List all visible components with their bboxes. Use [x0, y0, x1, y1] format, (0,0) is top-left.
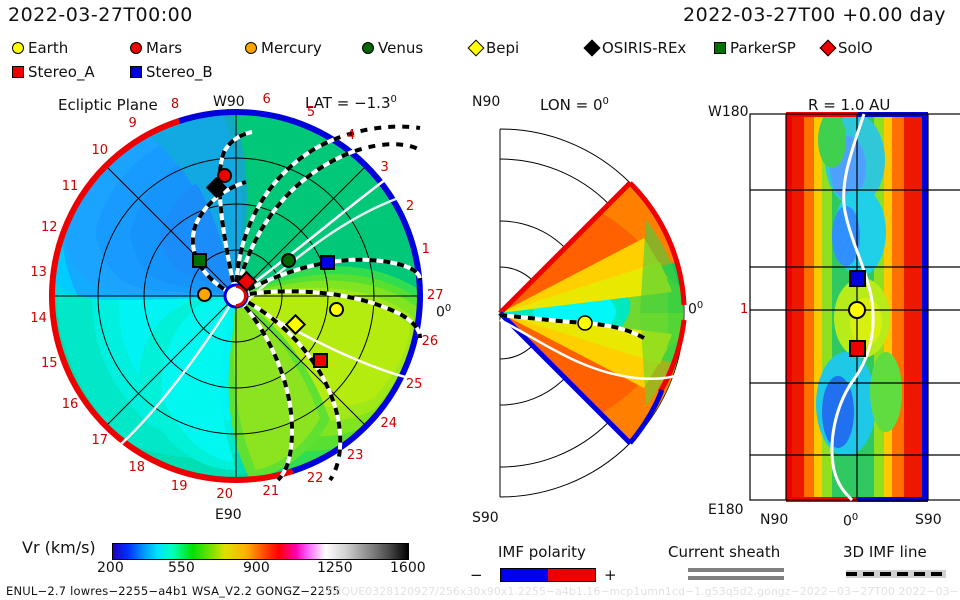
- ecliptic-hour-label-23: 23: [347, 448, 364, 463]
- ecliptic-hour-label-5: 5: [307, 105, 315, 120]
- imf-polarity-bar: [500, 568, 596, 582]
- ecliptic-hour-label-14: 14: [30, 311, 47, 326]
- ecliptic-marker-earth: [329, 302, 344, 317]
- ecliptic-hour-label-12: 12: [41, 220, 58, 235]
- current-sheath-swatch-top: [688, 568, 784, 572]
- sun-disc: [228, 288, 244, 304]
- ecliptic-marker-mercury: [197, 287, 212, 302]
- run-id-watermark: UNIQUE0328120927/256x30x90x1.2255−a4b1.1…: [322, 585, 960, 598]
- ecliptic-hour-label-25: 25: [406, 377, 423, 392]
- colorbar-tick-3: 1250: [317, 560, 353, 576]
- synoptic-stereo-b-marker: [850, 271, 865, 286]
- ecliptic-marker-stereo-b: [320, 255, 335, 270]
- colorbar-label: Vr (km/s): [22, 538, 96, 557]
- current-sheath-swatch-bottom: [688, 576, 784, 580]
- ecliptic-hour-label-15: 15: [41, 356, 58, 371]
- synoptic-earth-marker: [849, 302, 865, 318]
- colorbar-tick-4: 1600: [390, 560, 426, 576]
- ecliptic-hour-label-19: 19: [171, 479, 188, 494]
- ecliptic-hour-label-11: 11: [62, 179, 79, 194]
- synoptic-polarity-left: [786, 114, 792, 500]
- ecliptic-hour-label-1: 1: [422, 242, 430, 257]
- ecliptic-hour-label-9: 9: [129, 116, 137, 131]
- ecliptic-hour-label-21: 21: [263, 484, 280, 499]
- ecliptic-hour-label-4: 4: [347, 128, 355, 143]
- ecliptic-hour-label-17: 17: [91, 433, 108, 448]
- model-credit: ENUL−2.7 lowres−2255−a4b1 WSA_V2.2 GONGZ…: [6, 584, 340, 598]
- colorbar-tick-1: 550: [168, 560, 195, 576]
- ecliptic-hour-label-18: 18: [129, 460, 146, 475]
- ecliptic-hour-label-26: 26: [422, 334, 439, 349]
- ecliptic-marker-venus: [281, 253, 296, 268]
- ecliptic-marker-stereo-a: [313, 353, 328, 368]
- synoptic-polarity-right: [922, 114, 928, 500]
- imf-polarity-title: IMF polarity: [498, 543, 586, 561]
- ecliptic-marker-parkersp: [192, 253, 207, 268]
- meridional-earth-marker: [578, 316, 592, 330]
- ecliptic-hour-label-3: 3: [380, 160, 388, 175]
- imf-minus-sign: −: [470, 566, 483, 584]
- ecliptic-hour-label-6: 6: [263, 92, 271, 107]
- ecliptic-hour-label-8: 8: [171, 97, 179, 112]
- synoptic-plot: [750, 112, 960, 502]
- ecliptic-hour-label-10: 10: [91, 143, 108, 158]
- colorbar-tick-0: 200: [97, 560, 124, 576]
- solar-wind-plots: [0, 0, 960, 600]
- imf-plus-sign: +: [604, 566, 617, 584]
- synoptic-stereo-a-marker: [850, 341, 865, 356]
- ecliptic-hour-label-24: 24: [380, 416, 397, 431]
- ecliptic-hour-label-27: 27: [427, 288, 444, 303]
- ecliptic-hour-label-16: 16: [62, 397, 79, 412]
- ecliptic-hour-label-22: 22: [307, 471, 324, 486]
- ecliptic-hour-label-20: 20: [216, 487, 233, 502]
- colorbar-tick-2: 900: [243, 560, 270, 576]
- imf-line-swatch-dash: [846, 572, 946, 576]
- ecliptic-hour-label-2: 2: [406, 199, 414, 214]
- vr-colorbar: [112, 543, 409, 560]
- imf-line-title: 3D IMF line: [843, 543, 927, 561]
- ecliptic-hour-label-13: 13: [30, 265, 47, 280]
- ecliptic-plot: [4, 60, 468, 528]
- current-sheath-title: Current sheath: [668, 543, 780, 561]
